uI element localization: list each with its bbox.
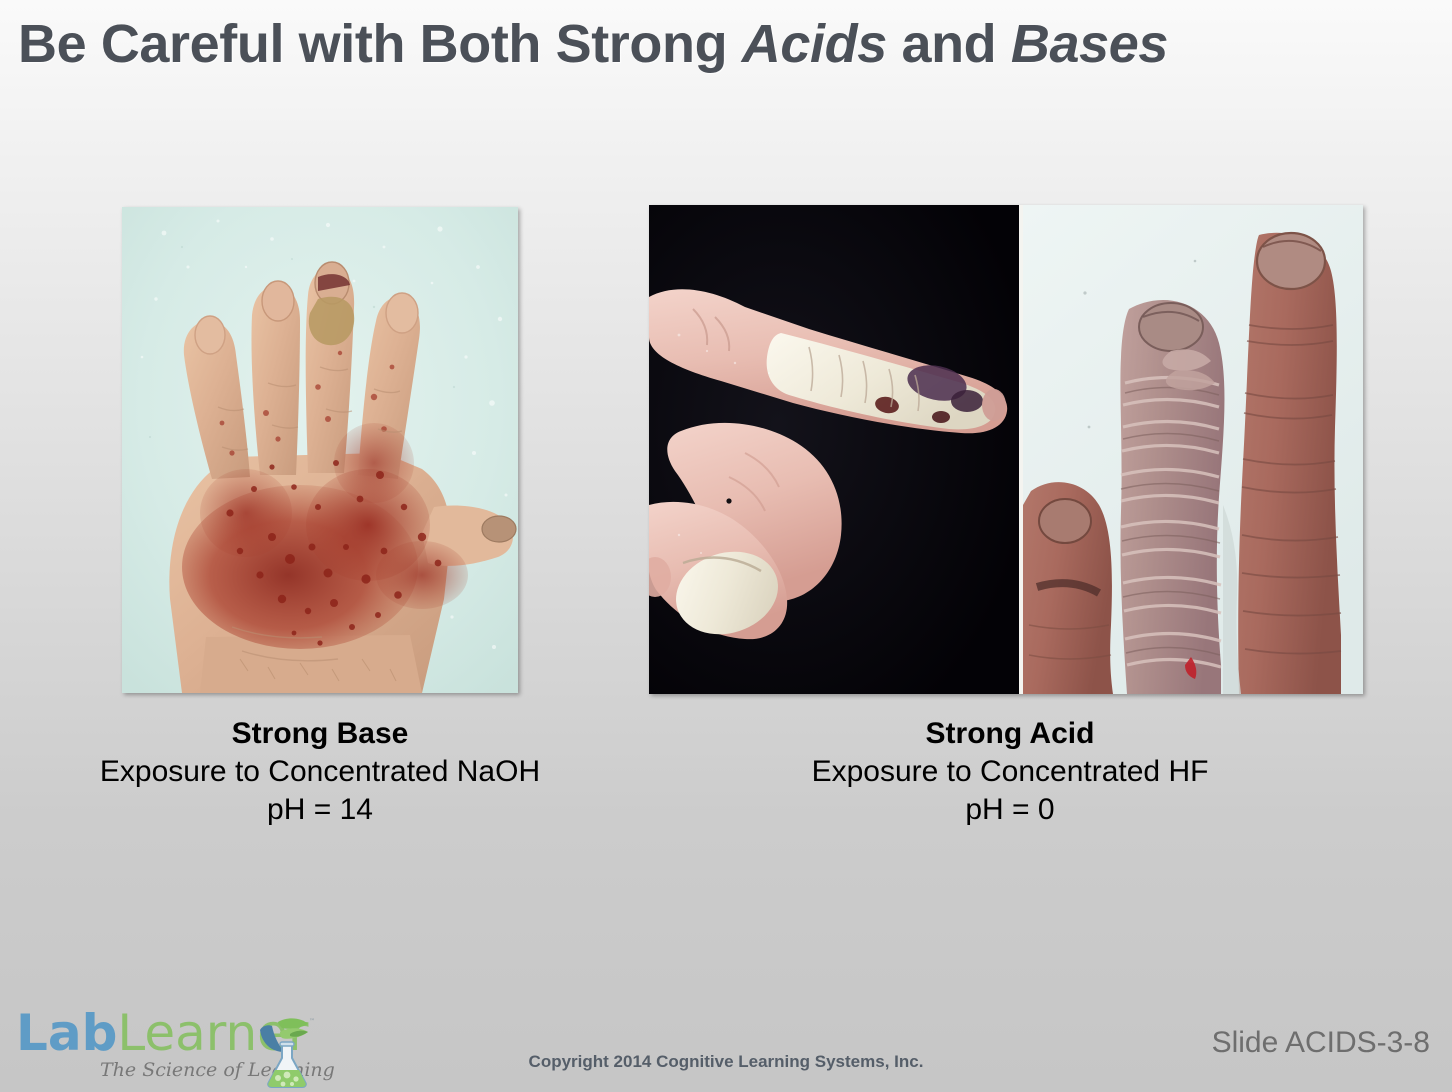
photo-strong-acid: [649, 205, 1363, 694]
title-segment-3: and: [887, 14, 1011, 74]
caption-strong-acid: Strong Acid Exposure to Concentrated HF …: [730, 715, 1290, 829]
caption-strong-base: Strong Base Exposure to Concentrated NaO…: [40, 715, 600, 829]
flask-icon: ™: [256, 1014, 318, 1088]
title-segment-bases: Bases: [1011, 14, 1168, 74]
slide-identifier: Slide ACIDS-3-8: [1212, 1026, 1430, 1060]
slide-canvas: Be Careful with Both Strong Acids and Ba…: [0, 0, 1452, 1092]
strong-base-hand-illustration: [122, 207, 518, 693]
lablearner-logo: LabLearner The Science of Learning ™: [8, 1010, 318, 1088]
photo-strong-acid-left-half: [649, 205, 1019, 694]
caption-base-line3: pH = 14: [40, 791, 600, 829]
svg-text:™: ™: [309, 1018, 315, 1025]
caption-base-line2: Exposure to Concentrated NaOH: [40, 753, 600, 791]
caption-base-heading: Strong Base: [40, 715, 600, 753]
hf-fingers-dark-illustration: [649, 205, 1019, 694]
photo-strong-base: [122, 207, 518, 693]
page-title: Be Careful with Both Strong Acids and Ba…: [18, 14, 1438, 74]
hf-fingers-light-illustration: [1023, 205, 1363, 694]
caption-acid-line3: pH = 0: [730, 791, 1290, 829]
title-segment-1: Be Careful with Both Strong: [18, 14, 742, 74]
caption-acid-line2: Exposure to Concentrated HF: [730, 753, 1290, 791]
photo-strong-acid-right-half: [1023, 205, 1363, 694]
caption-acid-heading: Strong Acid: [730, 715, 1290, 753]
title-segment-acids: Acids: [742, 14, 887, 74]
